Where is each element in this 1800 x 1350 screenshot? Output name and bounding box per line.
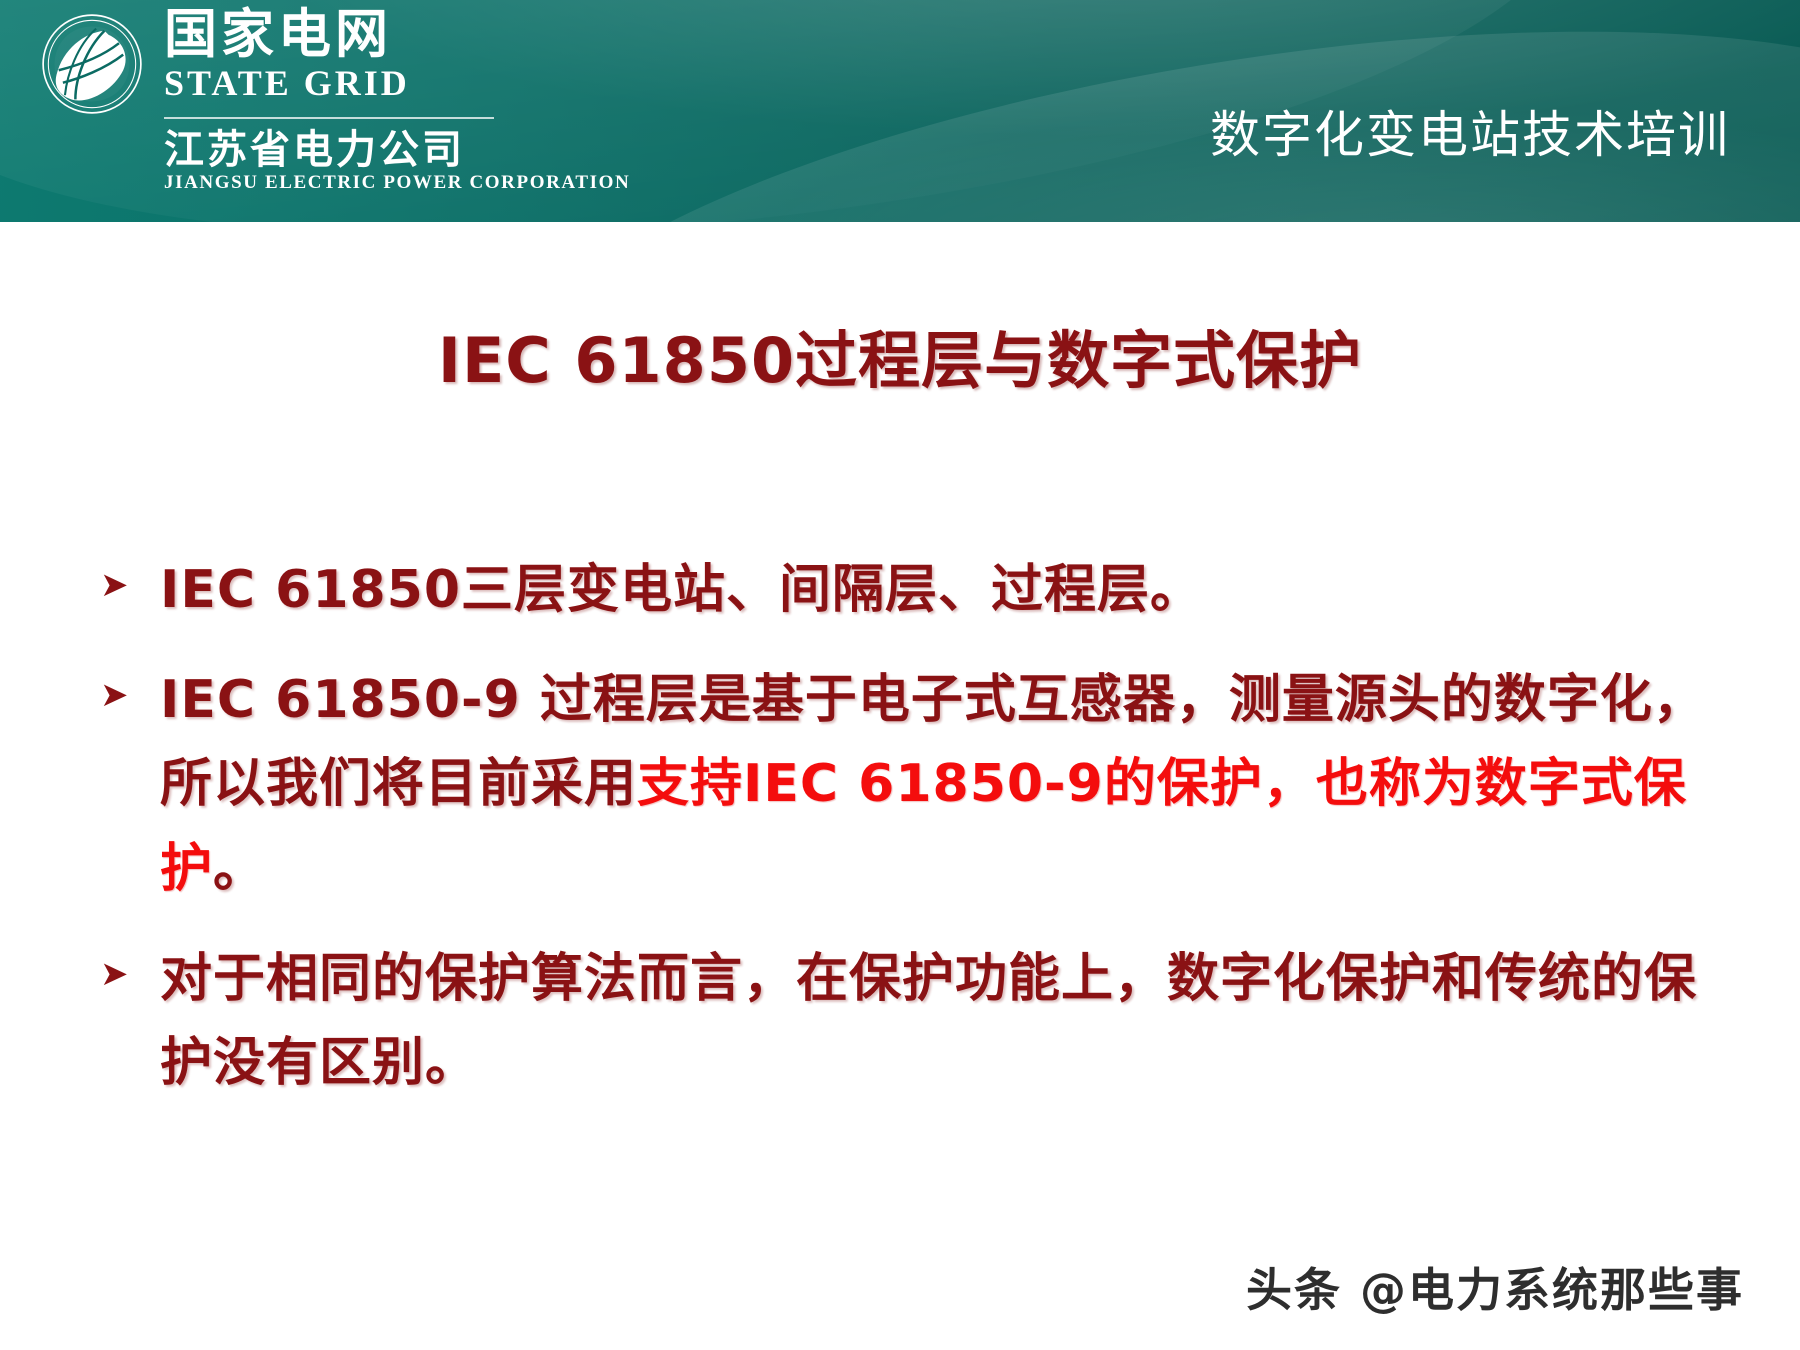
list-item: ➤ 对于相同的保护算法而言，在保护功能上，数字化保护和传统的保护没有区别。: [100, 937, 1740, 1105]
slide-header-banner: 国家电网 STATE GRID 江苏省电力公司 JIANGSU ELECTRIC…: [0, 0, 1800, 222]
brand-name-en: STATE GRID: [164, 65, 630, 103]
brand-name-cn: 国家电网: [164, 6, 630, 63]
list-item: ➤ IEC 61850-9 过程层是基于电子式互感器，测量源头的数字化，所以我们…: [100, 658, 1740, 911]
watermark-text: 头条 @电力系统那些事: [1246, 1254, 1744, 1320]
bullet-segment: IEC 61850三层变电站、间隔层、过程层。: [160, 560, 1203, 620]
bullet-text-3: 对于相同的保护算法而言，在保护功能上，数字化保护和传统的保护没有区别。: [160, 937, 1740, 1105]
bullet-text-2: IEC 61850-9 过程层是基于电子式互感器，测量源头的数字化，所以我们将目…: [160, 658, 1740, 911]
bullet-list: ➤ IEC 61850三层变电站、间隔层、过程层。 ➤ IEC 61850-9 …: [100, 548, 1740, 1131]
bullet-text-1: IEC 61850三层变电站、间隔层、过程层。: [160, 548, 1740, 632]
list-item: ➤ IEC 61850三层变电站、间隔层、过程层。: [100, 548, 1740, 632]
subsidiary-name-en: JIANGSU ELECTRIC POWER CORPORATION: [164, 173, 630, 194]
course-title: 数字化变电站技术培训: [1210, 95, 1730, 167]
brand-logo-block: 国家电网 STATE GRID 江苏省电力公司 JIANGSU ELECTRIC…: [40, 6, 630, 194]
bullet-marker-icon: ➤: [100, 548, 160, 613]
subsidiary-name-cn: 江苏省电力公司: [164, 129, 630, 172]
slide-title: IEC 61850过程层与数字式保护: [0, 310, 1800, 400]
bullet-segment: 。: [213, 839, 266, 899]
bullet-marker-icon: ➤: [100, 658, 160, 723]
bullet-marker-icon: ➤: [100, 937, 160, 1002]
brand-divider: [164, 117, 494, 119]
brand-text-group: 国家电网 STATE GRID 江苏省电力公司 JIANGSU ELECTRIC…: [164, 6, 630, 194]
state-grid-globe-logo-icon: [40, 12, 144, 116]
presentation-slide: 国家电网 STATE GRID 江苏省电力公司 JIANGSU ELECTRIC…: [0, 0, 1800, 1350]
bullet-segment: 对于相同的保护算法而言，在保护功能上，数字化保护和传统的保护没有区别。: [160, 949, 1697, 1093]
